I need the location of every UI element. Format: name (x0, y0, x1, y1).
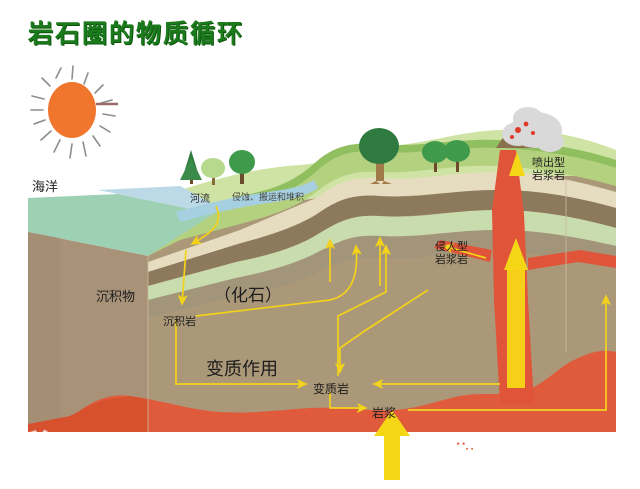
label-ocean: 海洋 (32, 176, 58, 195)
label-river: 河流 (190, 190, 210, 205)
wechat-id-text: 微信号: dizhiluntan (484, 438, 622, 459)
sun-icon (31, 66, 118, 158)
arrow-volcano-shaft (507, 268, 525, 388)
label-intrusive-line1: 侵人型 (435, 240, 468, 253)
label-extrusive-line1: 喷出型 (532, 156, 565, 169)
page-title: 岩石圈的物质循环 (28, 14, 244, 50)
label-sedimentary-rock: 沉积岩 (163, 313, 196, 329)
diagram-canvas (0, 0, 640, 480)
label-intrusive-igneous: 侵人型 岩浆岩 (435, 240, 468, 266)
label-intrusive-line2: 岩浆岩 (435, 253, 468, 266)
label-extrusive-line2: 岩浆岩 (532, 169, 565, 182)
watermark-left: 秘网 网 (22, 418, 110, 489)
rock-cycle-diagram: 岩石圈的物质循环 海洋 沉积物 河流 侵蚀、搬运和堆积 沉积岩 （化石） 变质作… (0, 0, 640, 480)
label-metamorphism: 变质作用 (206, 355, 278, 381)
label-fossil: （化石） (214, 281, 282, 306)
label-erosion-transport: 侵蚀、搬运和堆积 (232, 190, 304, 203)
wechat-icon (452, 437, 478, 459)
label-metamorphic-rock: 变质岩 (313, 380, 349, 397)
block-left-face-shade (28, 232, 60, 432)
label-magma: 岩浆 (372, 404, 396, 421)
watermark-left-text: 秘网 (22, 428, 110, 474)
tree-icon (180, 150, 202, 184)
label-sediment: 沉积物 (96, 286, 135, 305)
wechat-watermark: 微信号: dizhiluntan (452, 437, 622, 459)
label-extrusive-igneous: 喷出型 岩浆岩 (532, 156, 565, 182)
